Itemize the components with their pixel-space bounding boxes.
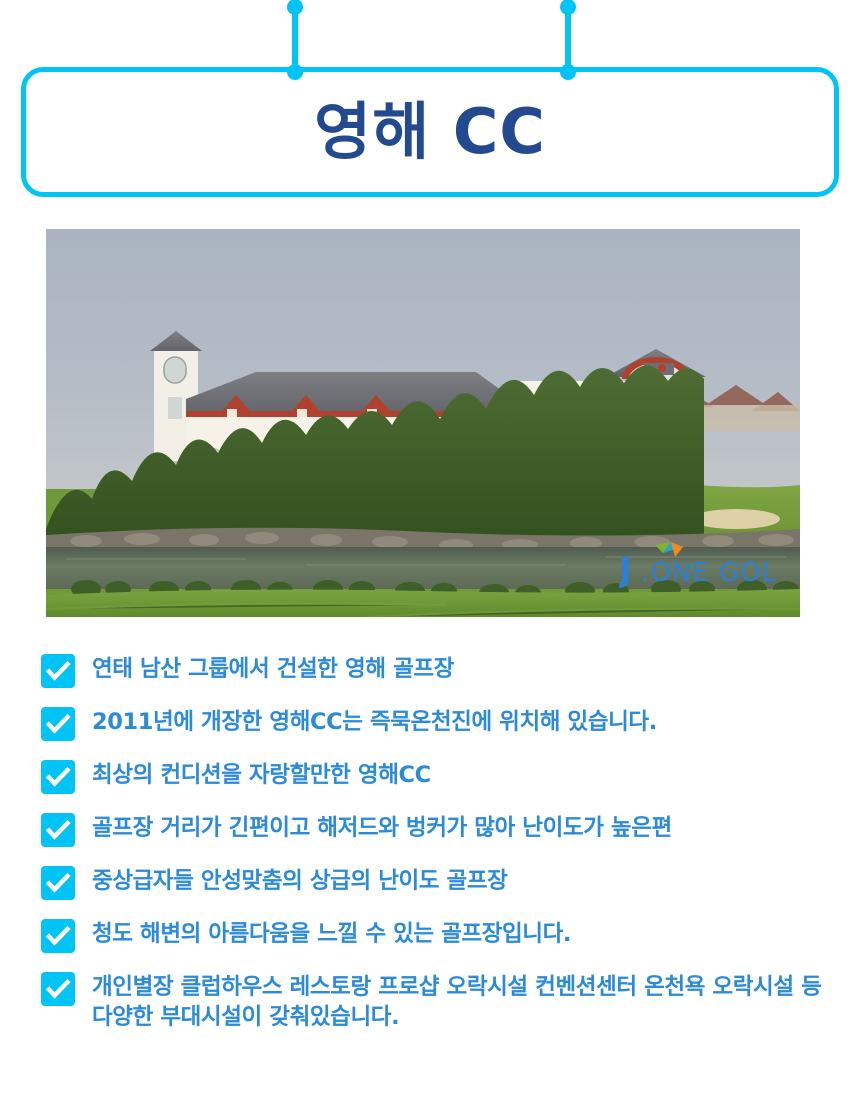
list-item-label: 중상급자들 안성맞춤의 상급의 난이도 골프장 [92, 864, 507, 897]
course-photo-illustration [46, 229, 800, 617]
course-photo [46, 229, 800, 617]
checkbox-checked-icon [40, 865, 76, 901]
feature-checklist: 연태 남산 그룹에서 건설한 영해 골프장 2011년에 개장한 영해CC는 즉… [40, 652, 840, 1032]
checkbox-checked-icon [40, 812, 76, 848]
list-item-label: 2011년에 개장한 영해CC는 즉묵온천진에 위치해 있습니다. [92, 705, 657, 738]
checkbox-checked-icon [40, 759, 76, 795]
list-item: 개인별장 클럽하우스 레스토랑 프로샵 오락시설 컨벤션센터 온천욕 오락시설 … [40, 970, 840, 1032]
list-item: 골프장 거리가 긴편이고 해저드와 벙커가 많아 난이도가 높은편 [40, 811, 840, 848]
checkbox-checked-icon [40, 971, 76, 1007]
list-item: 최상의 컨디션을 자랑할만한 영해CC [40, 758, 840, 795]
checkbox-checked-icon [40, 653, 76, 689]
checkbox-checked-icon [40, 706, 76, 742]
list-item-label: 최상의 컨디션을 자랑할만한 영해CC [92, 758, 431, 791]
title-hanger-right [565, 4, 571, 72]
list-item: 중상급자들 안성맞춤의 상급의 난이도 골프장 [40, 864, 840, 901]
list-item: 연태 남산 그룹에서 건설한 영해 골프장 [40, 652, 840, 689]
checkbox-checked-icon [40, 918, 76, 954]
list-item-label: 연태 남산 그룹에서 건설한 영해 골프장 [92, 652, 454, 685]
page-title: 영해 CC [314, 101, 546, 163]
list-item-label: 골프장 거리가 긴편이고 해저드와 벙커가 많아 난이도가 높은편 [92, 811, 672, 844]
list-item: 2011년에 개장한 영해CC는 즉묵온천진에 위치해 있습니다. [40, 705, 840, 742]
list-item-label: 청도 해변의 아름다움을 느낄 수 있는 골프장입니다. [92, 917, 571, 950]
title-hanger-left [292, 4, 298, 72]
list-item-label: 개인별장 클럽하우스 레스토랑 프로샵 오락시설 컨벤션센터 온천욕 오락시설 … [92, 970, 832, 1032]
list-item: 청도 해변의 아름다움을 느낄 수 있는 골프장입니다. [40, 917, 840, 954]
title-card: 영해 CC [21, 67, 839, 197]
